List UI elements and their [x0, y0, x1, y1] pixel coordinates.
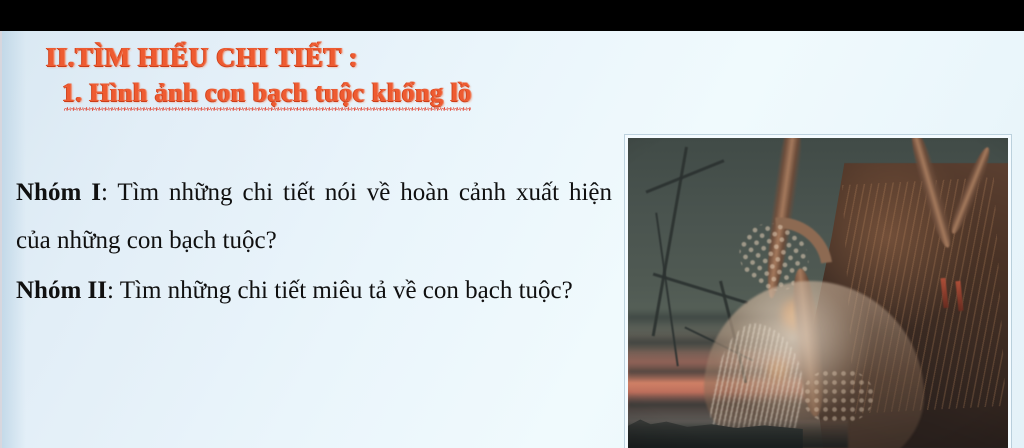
- octopus-illustration-frame: [625, 135, 1011, 448]
- heading-block: II.TÌM HIỂU CHI TIẾT : 1. Hình ảnh con b…: [0, 43, 620, 107]
- question-paragraph-2: Nhóm II: Tìm những chi tiết miêu tả về c…: [16, 267, 612, 315]
- sucker-cluster-lower: [803, 369, 873, 423]
- question-paragraph-1: Nhóm I: Tìm những chi tiết nói về hoàn c…: [16, 169, 612, 265]
- presentation-slide: II.TÌM HIỂU CHI TIẾT : 1. Hình ảnh con b…: [0, 31, 1024, 448]
- heading-line-1: II.TÌM HIỂU CHI TIẾT :: [46, 43, 620, 72]
- heading-line-2-text: 1. Hình ảnh con bạch tuộc khổng lồ: [62, 79, 472, 107]
- slide-screenshot: II.TÌM HIỂU CHI TIẾT : 1. Hình ảnh con b…: [0, 0, 1024, 448]
- question-text-2: : Tìm những chi tiết miêu tả về con bạch…: [107, 277, 573, 304]
- octopus-illustration: [628, 138, 1008, 448]
- question-text-1: : Tìm những chi tiết nói về hoàn cảnh xu…: [16, 179, 612, 254]
- heading-line-2: 1. Hình ảnh con bạch tuộc khổng lồ: [62, 79, 620, 107]
- group-label-1: Nhóm I: [16, 179, 101, 206]
- letterbox-top-bar: [0, 0, 1024, 31]
- group-label-2: Nhóm II: [16, 277, 107, 304]
- water-surface: [628, 420, 848, 448]
- body-text-block: Nhóm I: Tìm những chi tiết nói về hoàn c…: [16, 169, 612, 317]
